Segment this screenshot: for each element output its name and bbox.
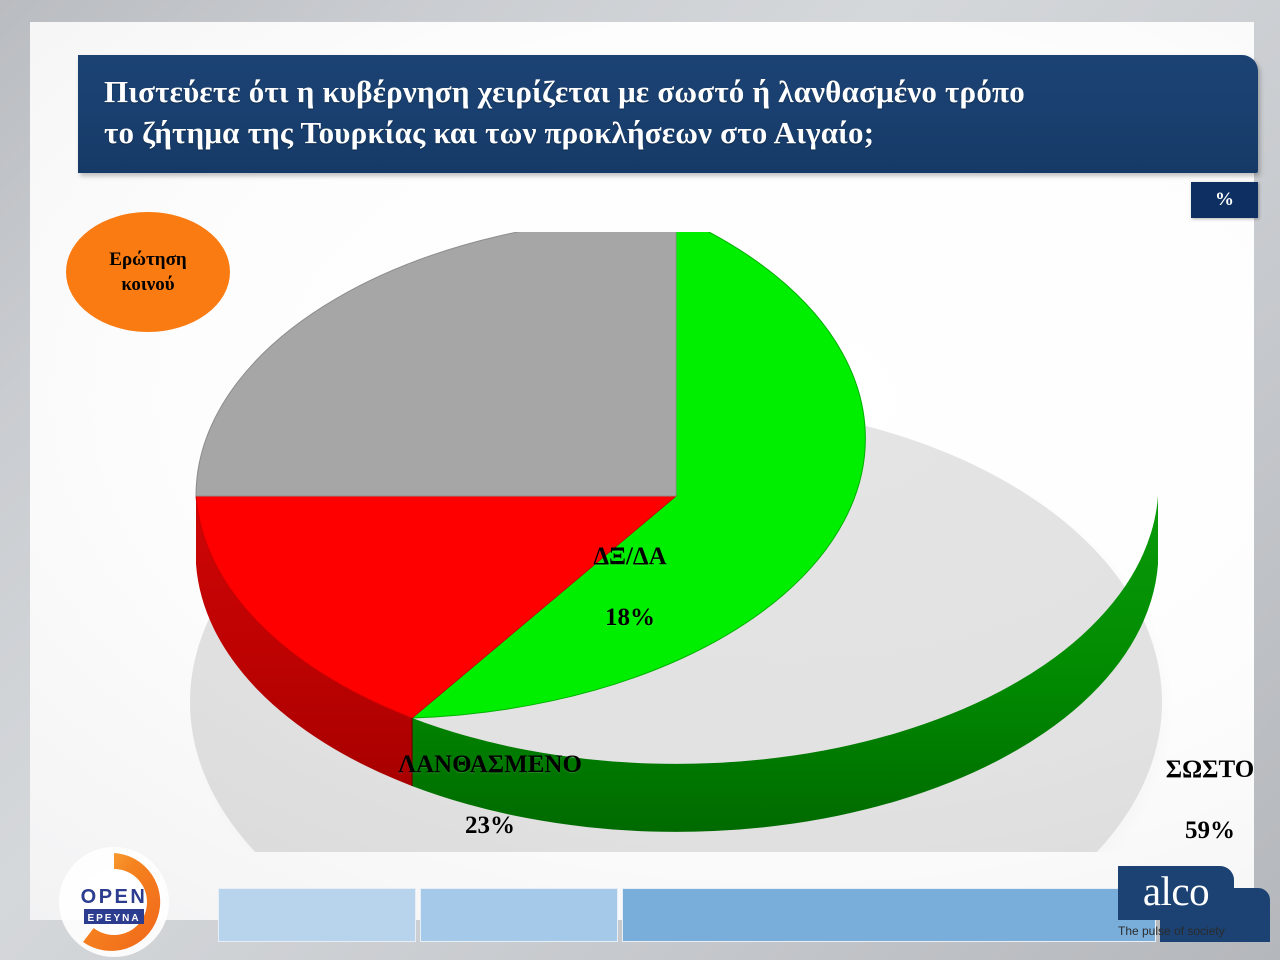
pie-label-sosto-name: ΣΩΣΤΟ bbox=[1100, 755, 1280, 786]
percent-unit-label: % bbox=[1215, 189, 1234, 211]
pie-slice-dxda bbox=[196, 232, 676, 496]
open-logo-word: OPEN bbox=[81, 886, 148, 908]
slide-root: Πιστεύετε ότι η κυβέρνηση χειρίζεται με … bbox=[0, 0, 1280, 960]
slide-canvas: Πιστεύετε ότι η κυβέρνηση χειρίζεται με … bbox=[30, 22, 1254, 920]
bubble-line-1: Ερώτηση bbox=[109, 247, 186, 272]
footer-bar-segment-2 bbox=[420, 888, 618, 942]
pie-label-dxda-name: ΔΞ/ΔΑ bbox=[510, 542, 750, 573]
open-ereyna-logo-svg: OPEN ΕΡΕΥΝΑ bbox=[37, 845, 192, 960]
alco-logo-tagline: The pulse of society bbox=[1118, 924, 1258, 938]
pie-label-sosto: ΣΩΣΤΟ 59% bbox=[1100, 724, 1280, 877]
pie-label-sosto-value: 59% bbox=[1100, 816, 1280, 847]
alco-logo-word: alco bbox=[1143, 871, 1209, 916]
pie-chart: ΣΩΣΤΟ 59% ΛΑΝΘΑΣΜΕΝΟ 23% ΔΞ/ΔΑ 18% bbox=[180, 232, 1180, 852]
open-logo-subword: ΕΡΕΥΝΑ bbox=[87, 913, 140, 924]
percent-unit-badge: % bbox=[1191, 182, 1258, 218]
footer-bar-segment-3 bbox=[622, 888, 1156, 942]
alco-logo: alco bbox=[1118, 866, 1234, 920]
pie-label-lanthasmeno-name: ΛΑΝΘΑΣΜΕΝΟ bbox=[345, 750, 635, 781]
pie-label-lanthasmeno: ΛΑΝΘΑΣΜΕΝΟ 23% bbox=[345, 719, 635, 872]
title-banner: Πιστεύετε ότι η κυβέρνηση χειρίζεται με … bbox=[78, 55, 1258, 173]
pie-label-dxda-value: 18% bbox=[510, 603, 750, 634]
bubble-line-2: κοινού bbox=[121, 272, 174, 297]
pie-label-lanthasmeno-value: 23% bbox=[345, 811, 635, 842]
page-title: Πιστεύετε ότι η κυβέρνηση χειρίζεται με … bbox=[104, 72, 1238, 153]
footer-bar-strip bbox=[60, 888, 1280, 942]
footer-bar-segment-1 bbox=[218, 888, 416, 942]
open-ereyna-logo: OPEN ΕΡΕΥΝΑ bbox=[37, 845, 192, 960]
pie-label-dxda: ΔΞ/ΔΑ 18% bbox=[510, 511, 750, 664]
